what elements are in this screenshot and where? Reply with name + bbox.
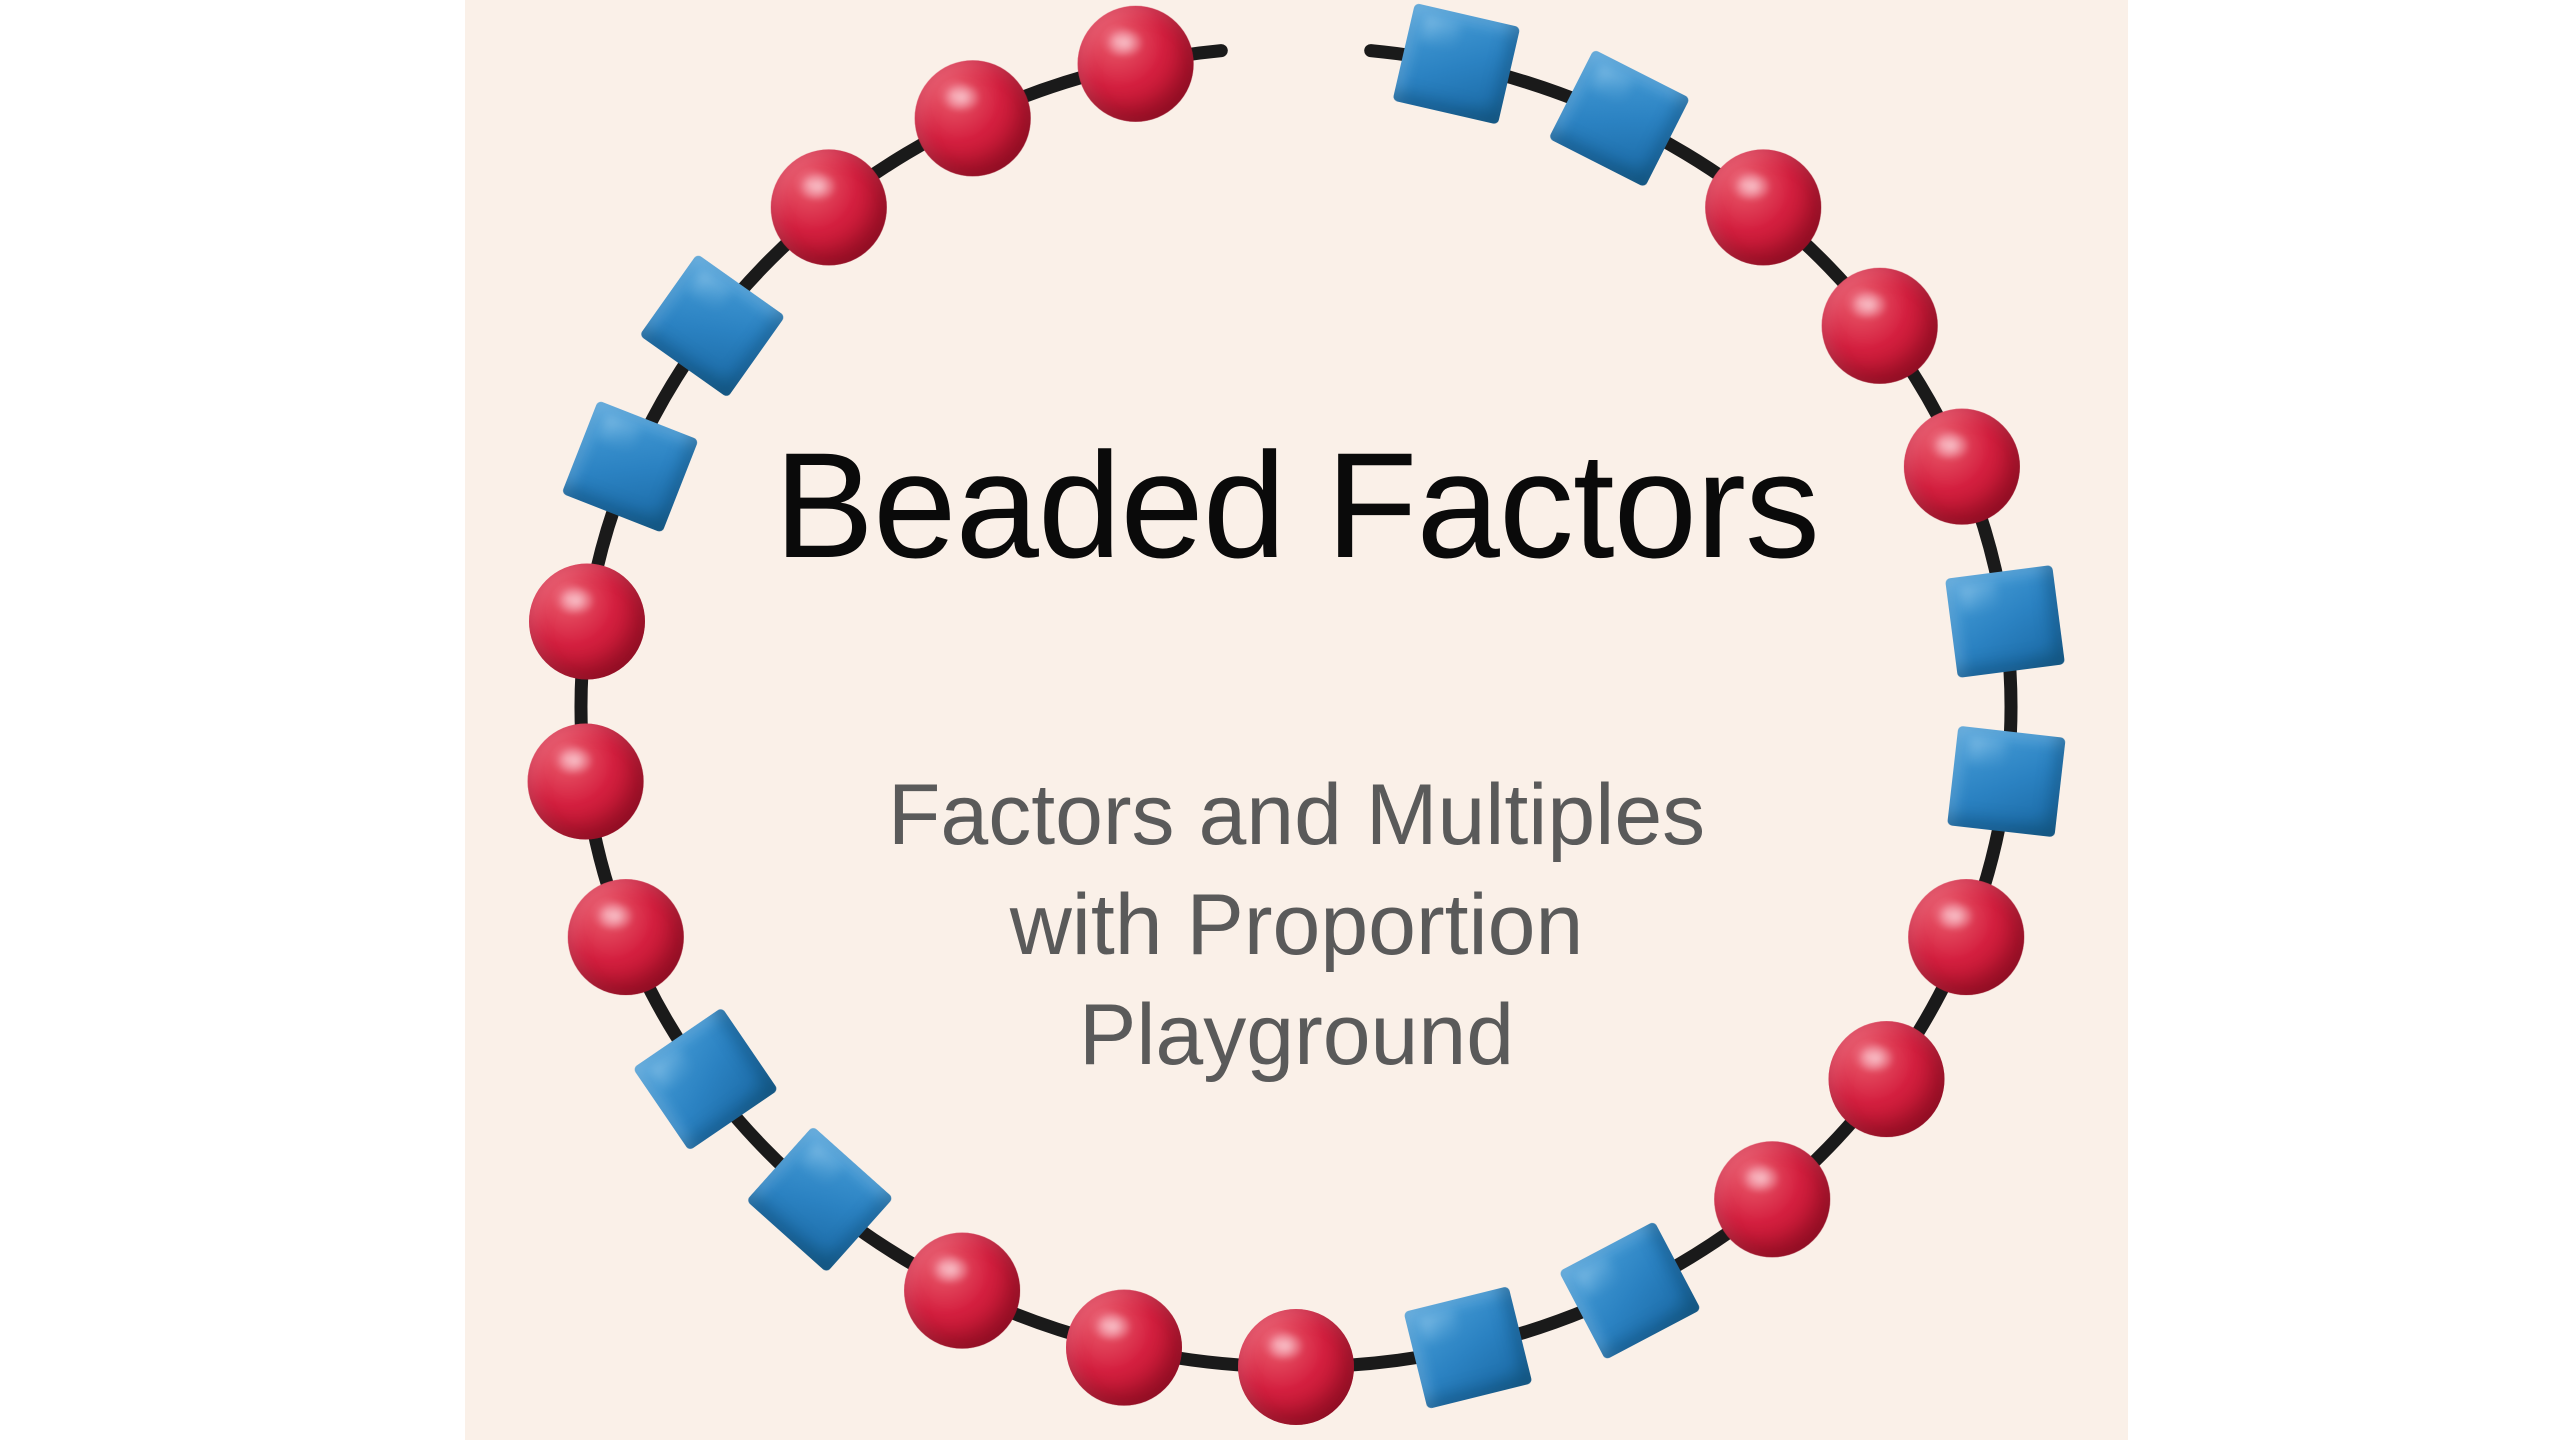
bead-red-sphere	[1904, 409, 2020, 525]
bead-red-sphere	[771, 149, 887, 265]
bead-red-sphere	[1078, 6, 1194, 122]
screenshot-canvas: Beaded Factors Factors and Multiples wit…	[0, 0, 2560, 1440]
beaded-necklace-graphic	[465, 0, 2128, 1440]
bead-blue-cube	[1945, 565, 2065, 678]
bead-red-sphere	[904, 1233, 1020, 1349]
bead-red-sphere	[1829, 1021, 1945, 1137]
bead-red-sphere	[1822, 268, 1938, 384]
bead-red-sphere	[529, 564, 645, 680]
necklace-cord	[465, 0, 2128, 1440]
bead-red-sphere	[915, 60, 1031, 176]
bead-blue-cube	[1947, 726, 2066, 838]
bead-red-sphere	[1066, 1290, 1182, 1406]
bead-red-sphere	[528, 724, 644, 840]
bead-red-sphere	[568, 879, 684, 995]
bead-red-sphere	[1238, 1309, 1354, 1425]
slide-panel: Beaded Factors Factors and Multiples wit…	[465, 0, 2128, 1440]
bead-red-sphere	[1908, 879, 2024, 995]
bead-red-sphere	[1705, 149, 1821, 265]
bead-red-sphere	[1714, 1141, 1830, 1257]
